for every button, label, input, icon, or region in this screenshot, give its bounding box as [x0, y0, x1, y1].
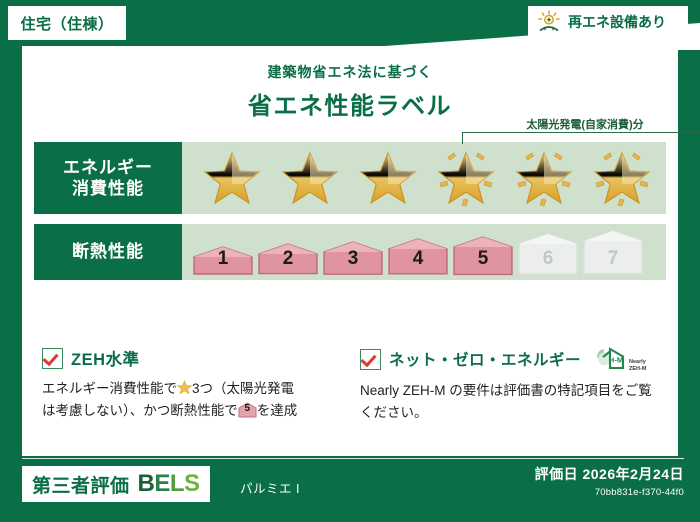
insulation-level-7: 7 — [582, 230, 644, 276]
zeh-standard-heading: ZEH水準 — [42, 346, 344, 370]
insulation-level-6: 6 — [517, 233, 579, 276]
net-zero-title: ネット・ゼロ・エネルギー — [389, 348, 581, 370]
check-icon — [360, 349, 381, 370]
zeh-m-caption-line2: ZEH-M — [629, 366, 646, 372]
star-base — [194, 143, 270, 213]
zeh-standard-section: ZEH水準 エネルギー消費性能で3つ（太陽光発電は考慮しない）、かつ断熱性能で5… — [42, 346, 344, 425]
star-base — [272, 143, 348, 213]
check-icon — [42, 348, 63, 369]
zeh-m-logo: H-M Nearly ZEH-M — [593, 346, 646, 372]
inline-star-icon — [177, 380, 192, 395]
insulation-level-number: 7 — [582, 248, 644, 270]
insulation-level-number: 2 — [257, 248, 319, 270]
insulation-row-body: 1 2 3 4 5 6 7 — [182, 224, 666, 280]
insulation-level-3: 3 — [322, 241, 384, 276]
zeh-standard-title: ZEH水準 — [71, 346, 140, 370]
energy-performance-row: エネルギー 消費性能 太陽光発電(自家消費)分 — [34, 142, 666, 214]
insulation-level-number: 6 — [517, 248, 579, 270]
star-solar — [584, 143, 660, 213]
zeh-text-part2: は考慮しない）、かつ断熱性能で — [42, 403, 238, 418]
energy-row-label: エネルギー 消費性能 — [34, 142, 182, 214]
bels-logo: BELS — [138, 470, 200, 498]
energy-label-line1: エネルギー — [63, 157, 153, 178]
insulation-level-5: 5 — [452, 236, 514, 276]
energy-row-body: 太陽光発電(自家消費)分 — [182, 142, 666, 214]
evaluation-date-value: 2026年2月24日 — [582, 466, 684, 482]
insulation-label-text: 断熱性能 — [72, 241, 144, 262]
solar-annotation-label: 太陽光発電(自家消費)分 — [460, 116, 700, 132]
bels-plate: 第三者評価 BELS — [22, 466, 210, 502]
footer-divider — [22, 458, 684, 459]
zeh-text-part1: エネルギー消費性能で — [42, 381, 177, 396]
insulation-level-number: 3 — [322, 248, 384, 270]
insulation-level-1: 1 — [192, 246, 254, 276]
building-type-label: 住宅（住棟） — [20, 13, 113, 34]
energy-label-line2: 消費性能 — [72, 178, 144, 199]
rating-rows: エネルギー 消費性能 太陽光発電(自家消費)分 — [34, 142, 666, 290]
evaluation-date: 評価日 2026年2月24日 — [535, 464, 684, 484]
label-card: 建築物省エネ法に基づく 省エネ性能ラベル エネルギー 消費性能 太陽光発電(自家… — [22, 46, 678, 456]
footer-meta: 評価日 2026年2月24日 70bb831e-f370-44f0 — [535, 464, 684, 498]
insulation-level-number: 5 — [452, 248, 514, 270]
title-subtitle: 建築物省エネ法に基づく — [22, 62, 678, 82]
title-block: 建築物省エネ法に基づく 省エネ性能ラベル — [22, 62, 678, 121]
star-rating — [188, 142, 666, 214]
net-zero-energy-section: ネット・ゼロ・エネルギー H-M Nearly ZEH-M — [360, 346, 662, 425]
inline-house-badge: 5 — [238, 402, 257, 418]
evaluation-id: 70bb831e-f370-44f0 — [535, 487, 684, 498]
insulation-row-label: 断熱性能 — [34, 224, 182, 280]
zeh-text-starcount: 3つ（太陽光発電 — [192, 381, 294, 396]
star-solar — [506, 143, 582, 213]
criteria-sections: ZEH水準 エネルギー消費性能で3つ（太陽光発電は考慮しない）、かつ断熱性能で5… — [42, 346, 662, 425]
insulation-level-number: 4 — [387, 248, 449, 270]
label-root: 住宅（住棟） 再エネ設備あり 建築物省エネ法に基づく — [0, 0, 700, 522]
zeh-text-part3: を達成 — [257, 403, 298, 418]
footer: 第三者評価 BELS パルミエ I 評価日 2026年2月24日 70bb831… — [0, 456, 700, 522]
third-party-label: 第三者評価 — [32, 471, 130, 498]
sun-plug-icon — [536, 10, 562, 34]
star-base — [350, 143, 426, 213]
insulation-performance-row: 断熱性能 1 2 3 4 5 6 — [34, 224, 666, 280]
svg-text:H-M: H-M — [609, 356, 623, 365]
zeh-standard-description: エネルギー消費性能で3つ（太陽光発電は考慮しない）、かつ断熱性能で5を達成 — [42, 378, 344, 423]
inline-house-number: 5 — [238, 401, 257, 418]
insulation-level-2: 2 — [257, 243, 319, 276]
evaluation-date-label: 評価日 — [535, 466, 579, 482]
building-type-tab: 住宅（住棟） — [8, 6, 126, 40]
renewable-equipment-badge: 再エネ設備あり — [528, 6, 688, 38]
renewable-badge-label: 再エネ設備あり — [568, 12, 666, 32]
net-zero-description: Nearly ZEH-M の要件は評価書の特記項目をご覧ください。 — [360, 380, 662, 425]
insulation-level-4: 4 — [387, 238, 449, 276]
property-name: パルミエ I — [240, 478, 300, 497]
star-solar — [428, 143, 504, 213]
insulation-level-number: 1 — [192, 248, 254, 270]
insulation-scale: 1 2 3 4 5 6 7 — [192, 224, 666, 280]
net-zero-heading: ネット・ゼロ・エネルギー H-M Nearly ZEH-M — [360, 346, 662, 372]
